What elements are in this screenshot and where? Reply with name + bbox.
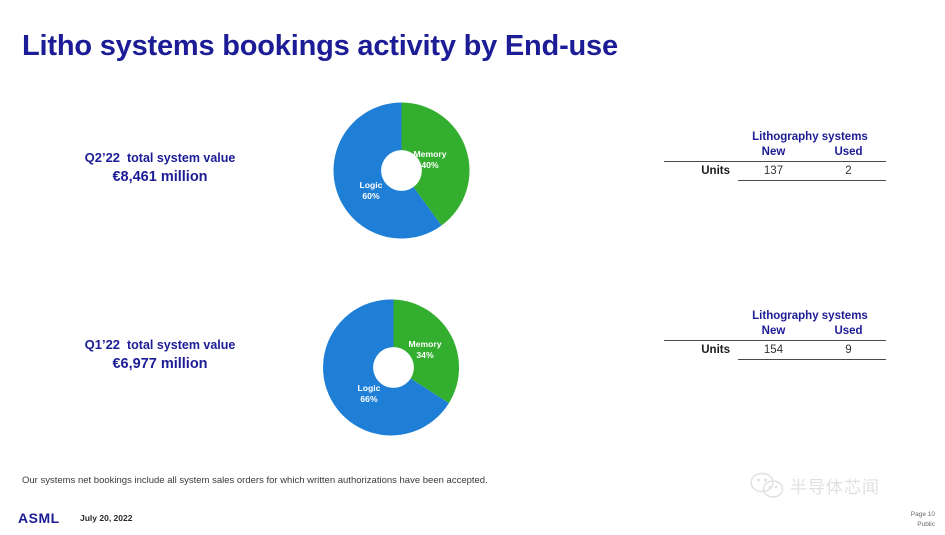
watermark: 半导体芯闻: [750, 472, 880, 499]
q2-row-label-units: Units: [664, 165, 736, 177]
q2-column-header-new: New: [736, 146, 811, 158]
q2-table-group-header: Lithography systems: [664, 131, 886, 143]
q2-caption-text: total system value: [127, 151, 235, 165]
q1-units-used-value: 9: [811, 344, 886, 356]
page-number: Page 10: [911, 510, 935, 520]
q2-units-new-value: 137: [736, 165, 811, 177]
q1-quarter-label: Q1’22: [85, 337, 120, 352]
q2-units-used-value: 2: [811, 165, 886, 177]
q2-table-header-spacer: [664, 146, 736, 158]
q1-table-bottom-rule: [738, 359, 886, 360]
q1-caption-text: total system value: [127, 338, 235, 352]
q2-end-use-donut-chart: Memory 40% Logic 60%: [333, 102, 470, 239]
q2-table-bottom-rule: [738, 180, 886, 181]
page-meta: Page 10 Public: [911, 510, 935, 530]
q2-total-value-block: Q2’22 total system value €8,461 million: [35, 150, 285, 185]
q1-lithography-systems-table: Lithography systems New Used Units 154 9: [664, 310, 886, 360]
q1-row-label-units: Units: [664, 344, 736, 356]
asml-logo: ASML: [18, 510, 60, 526]
q2-column-header-used: Used: [811, 146, 886, 158]
watermark-text: 半导体芯闻: [790, 473, 880, 498]
q2-lithography-systems-table: Lithography systems New Used Units 137 2: [664, 131, 886, 181]
footnote-text: Our systems net bookings include all sys…: [22, 475, 488, 486]
q1-value-caption: Q1’22 total system value: [35, 337, 285, 352]
q1-total-value-block: Q1’22 total system value €6,977 million: [35, 337, 285, 372]
q2-table-column-headers: New Used: [664, 146, 886, 158]
q1-table-column-headers: New Used: [664, 325, 886, 337]
q2-donut-svg: Memory 40% Logic 60%: [333, 102, 470, 239]
table-row: Units 137 2: [664, 162, 886, 177]
q1-column-header-new: New: [736, 325, 811, 337]
q1-units-new-value: 154: [736, 344, 811, 356]
q1-end-use-donut-chart: Memory 34% Logic 66%: [325, 299, 462, 436]
q1-logic-slice-label: Logic: [358, 383, 381, 393]
table-row: Units 154 9: [664, 341, 886, 356]
q2-memory-slice-label: Memory: [414, 149, 447, 159]
q1-memory-slice-value: 34%: [416, 350, 434, 360]
q2-total-value: €8,461 million: [35, 169, 285, 185]
q2-logic-slice-value: 60%: [362, 191, 380, 201]
q1-column-header-used: Used: [811, 325, 886, 337]
q1-table-group-header: Lithography systems: [664, 310, 886, 322]
q2-value-caption: Q2’22 total system value: [35, 150, 285, 165]
wechat-icon: [750, 472, 784, 499]
footer-date: July 20, 2022: [80, 513, 132, 523]
q2-memory-slice-value: 40%: [421, 160, 439, 170]
q1-table-header-spacer: [664, 325, 736, 337]
q1-memory-slice-label: Memory: [409, 339, 442, 349]
page-title: Litho systems bookings activity by End-u…: [22, 30, 618, 63]
q1-total-value: €6,977 million: [35, 356, 285, 372]
q1-logic-slice-value: 66%: [360, 394, 378, 404]
classification-label: Public: [911, 520, 935, 530]
q2-logic-slice-label: Logic: [360, 180, 383, 190]
q2-quarter-label: Q2’22: [85, 150, 120, 165]
q1-donut-hole: [373, 347, 414, 388]
q1-donut-svg: Memory 34% Logic 66%: [325, 299, 462, 436]
